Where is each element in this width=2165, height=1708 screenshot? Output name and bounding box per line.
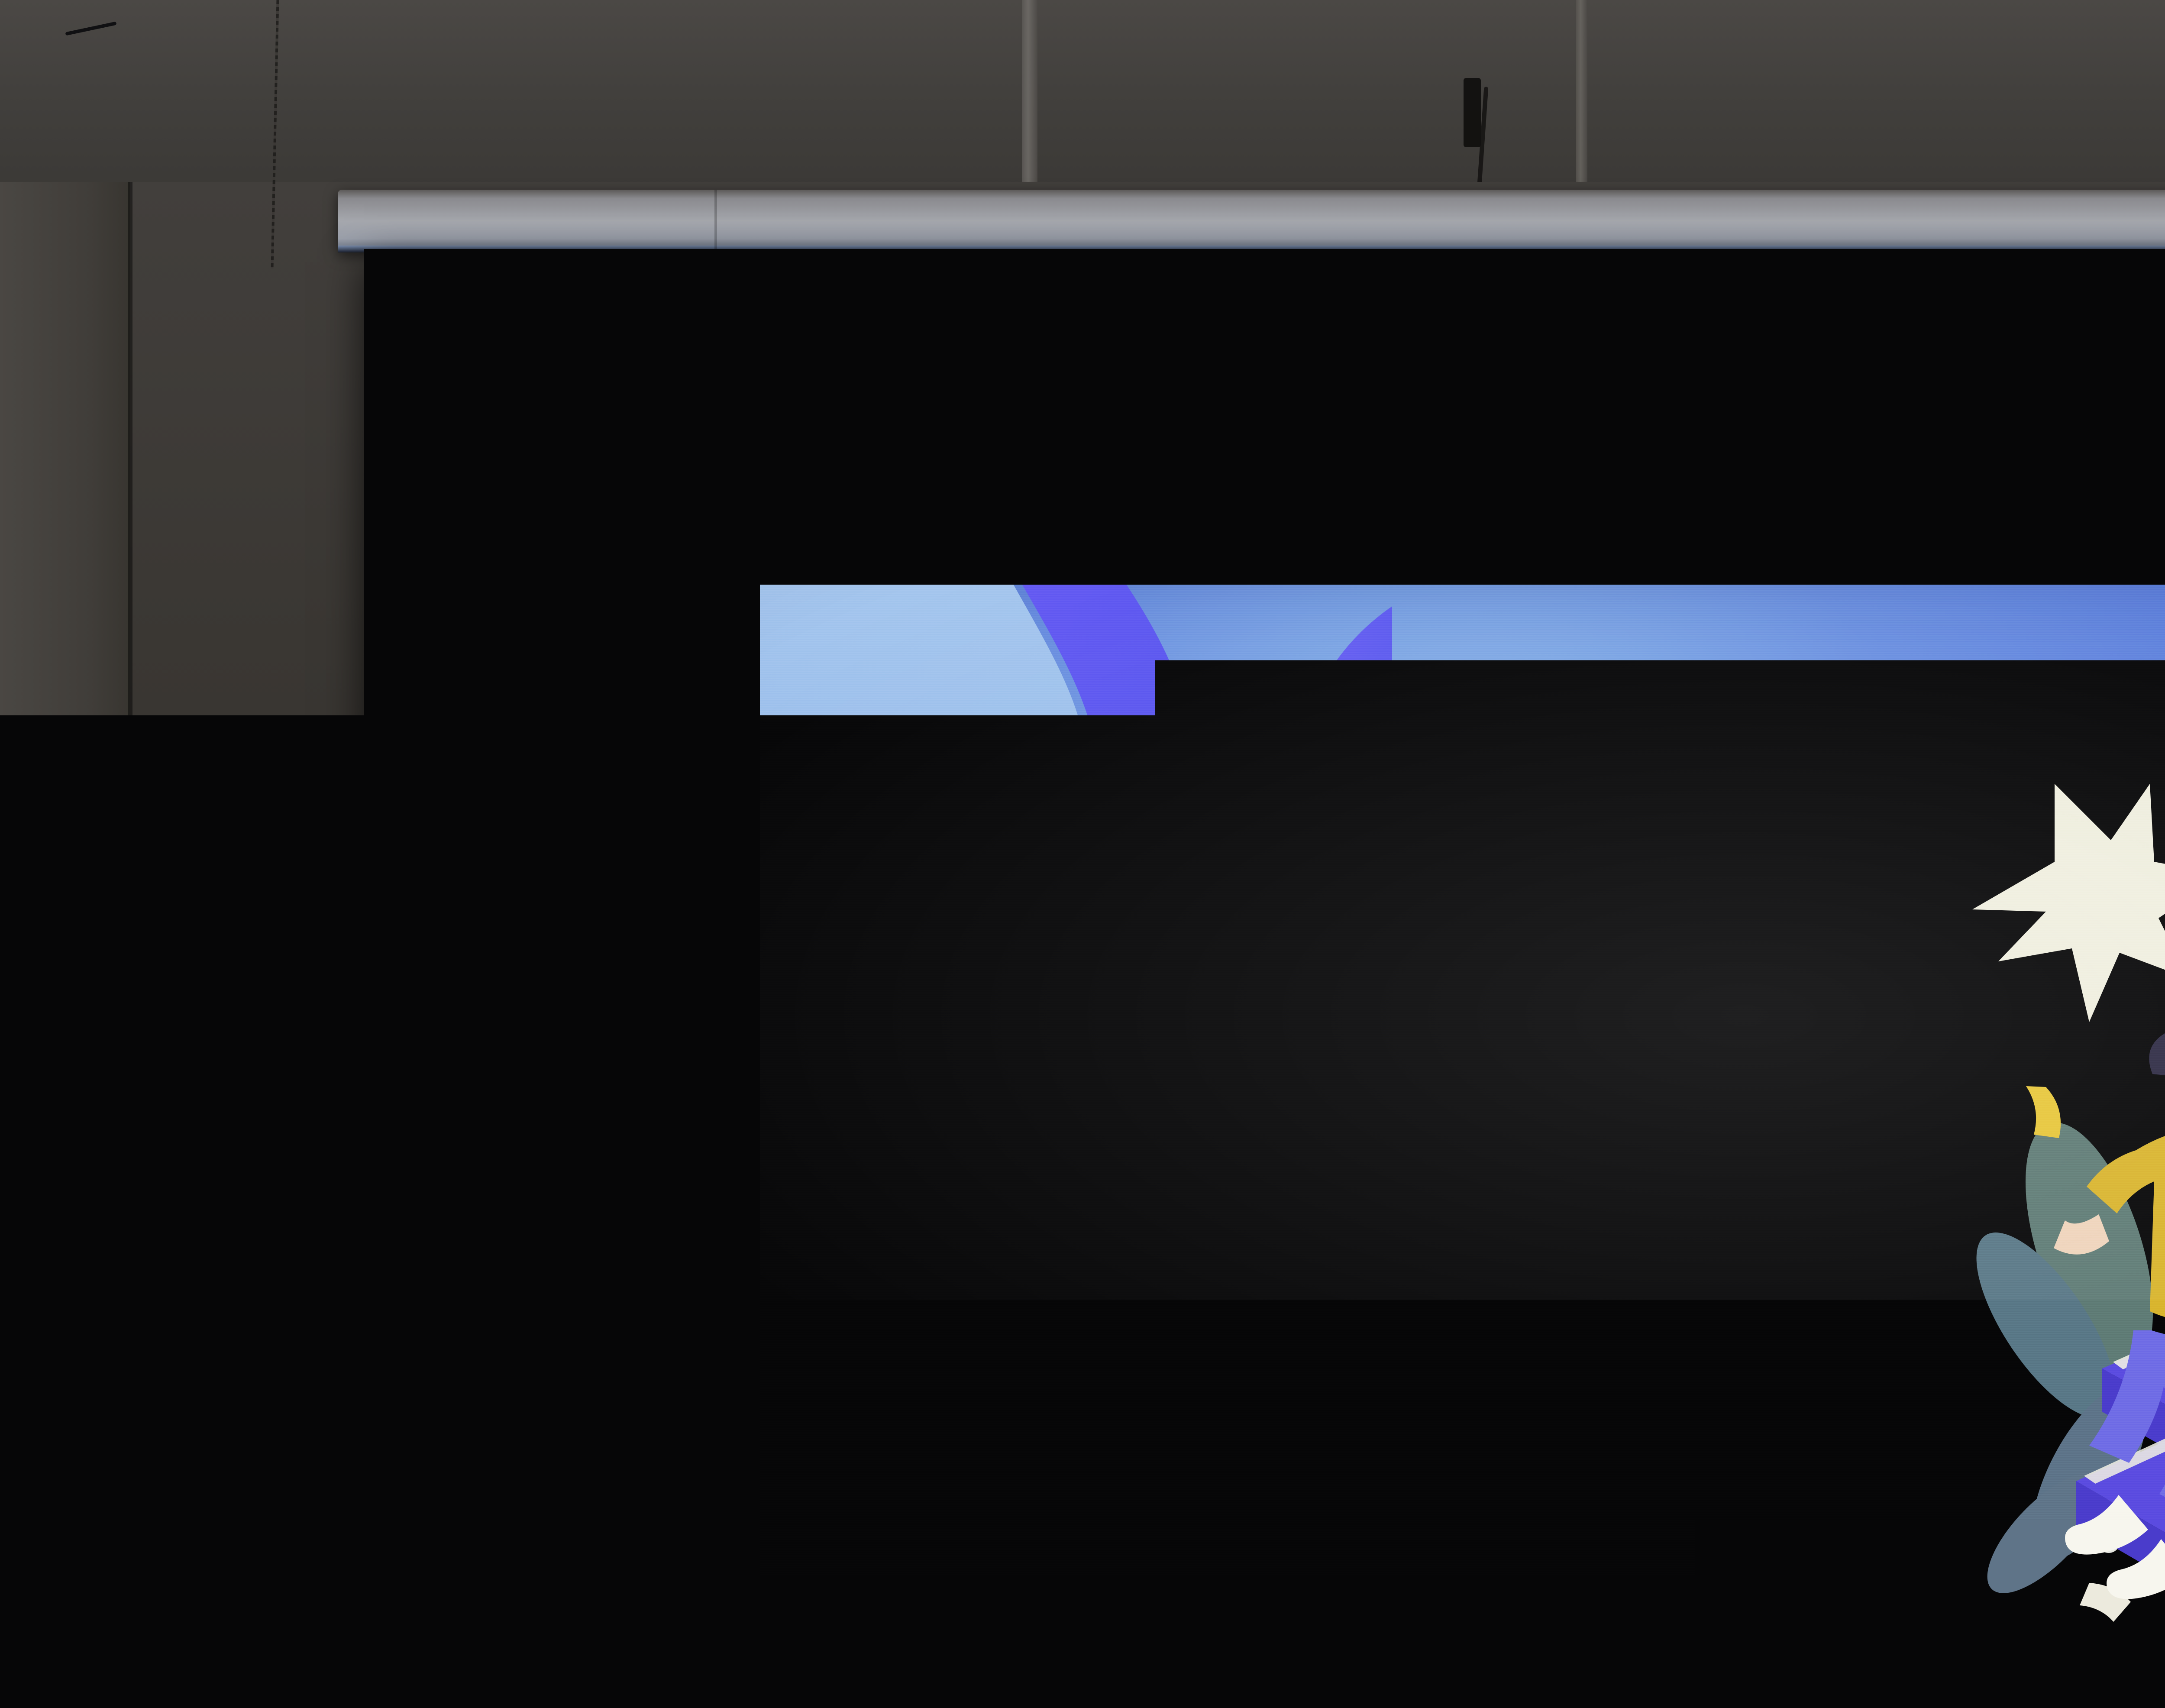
slide-title-line-1: 2025级艺术与科技 <box>989 979 1899 1094</box>
star-burst-large-left <box>1972 784 2165 1022</box>
slide-title: 2025级艺术与科技 专业学生介绍会 <box>989 979 1899 1210</box>
ceiling <box>0 0 2165 204</box>
wall-poster: 上海视觉艺术学院 SHANGHAI INSTITUTE OF VISUAL AR… <box>0 1091 92 1368</box>
ptz-status-led-icon <box>50 997 56 1002</box>
poster-body-lines <box>1 1138 89 1229</box>
poster-footer-band <box>0 1357 92 1368</box>
slide-title-line-2: 专业学生介绍会 <box>989 1094 1899 1210</box>
projected-slide: 2025级艺术与科技 专业学生介绍会 <box>760 585 2165 1708</box>
projection-screen-frame: 2025级艺术与科技 专业学生介绍会 <box>364 249 2165 1490</box>
ptz-lens-icon <box>48 959 67 978</box>
projection-screen-housing <box>338 190 2165 252</box>
lecture-hall-photo: 2025级艺术与科技 专业学生介绍会 <box>0 0 2165 1708</box>
left-wall-edge <box>128 182 132 1568</box>
poster-title: 校学生行为准则 <box>1 1116 92 1135</box>
poster-institution-name-en: SHANGHAI INSTITUTE OF VISUAL ARTS <box>2 1105 75 1109</box>
ptz-base <box>25 987 99 1008</box>
housing-seam <box>714 190 717 252</box>
ceiling-beam-left <box>1022 0 1037 204</box>
slide-illustration <box>1946 676 2165 1706</box>
ceiling-power-box <box>1464 78 1481 147</box>
ptz-camera <box>25 943 99 1008</box>
poster-institution-name: 上海视觉艺术学院 <box>2 1094 74 1106</box>
ceiling-beam-right <box>1576 0 1587 191</box>
